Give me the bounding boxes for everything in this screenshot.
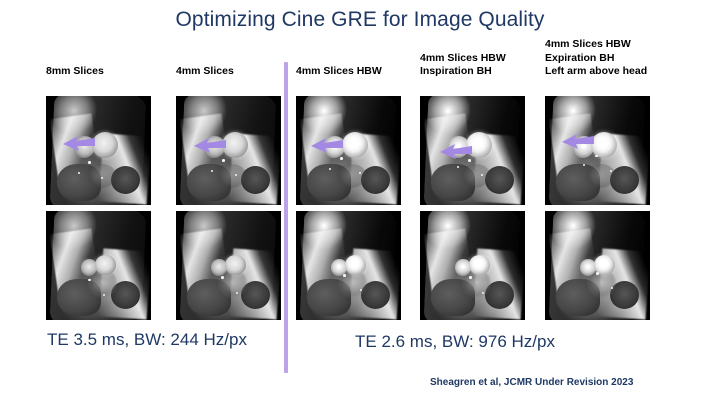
mri-panel-hbw-inspiration-systole[interactable] [420, 96, 525, 205]
mri-panel-8mm-systole[interactable] [46, 96, 151, 205]
mri-panel-hbw-expiration-systole[interactable] [545, 96, 650, 205]
mri-image [46, 96, 151, 205]
mri-panel-hbw-systole[interactable] [296, 96, 401, 205]
mri-panel-4mm-diastole[interactable] [176, 211, 281, 320]
caption-left-group: TE 3.5 ms, BW: 244 Hz/px [47, 330, 247, 350]
group-divider [284, 62, 288, 373]
mri-image [545, 96, 650, 205]
page-title: Optimizing Cine GRE for Image Quality [0, 8, 720, 32]
mri-image [420, 211, 525, 320]
presentation-slide: Optimizing Cine GRE for Image Quality 8m… [0, 0, 720, 405]
mri-panel-hbw-expiration-diastole[interactable] [545, 211, 650, 320]
mri-image [176, 96, 281, 205]
mri-image [296, 211, 401, 320]
column-label-4mm-hbw: 4mm Slices HBW [296, 65, 382, 78]
column-label-4mm-hbw-expiration: 4mm Slices HBW Expiration BH Left arm ab… [545, 38, 647, 78]
column-label-8mm-slices: 8mm Slices [46, 65, 104, 78]
mri-panel-hbw-inspiration-diastole[interactable] [420, 211, 525, 320]
mri-image [46, 211, 151, 320]
mri-image [176, 211, 281, 320]
mri-panel-4mm-systole[interactable] [176, 96, 281, 205]
mri-panel-8mm-diastole[interactable] [46, 211, 151, 320]
mri-image [296, 96, 401, 205]
column-label-4mm-slices: 4mm Slices [176, 65, 234, 78]
caption-right-group: TE 2.6 ms, BW: 976 Hz/px [355, 332, 555, 352]
citation-text: Sheagren et al, JCMR Under Revision 2023 [430, 377, 633, 388]
column-label-4mm-hbw-inspiration: 4mm Slices HBW Inspiration BH [420, 52, 506, 78]
mri-panel-hbw-diastole[interactable] [296, 211, 401, 320]
mri-image [420, 96, 525, 205]
mri-image [545, 211, 650, 320]
